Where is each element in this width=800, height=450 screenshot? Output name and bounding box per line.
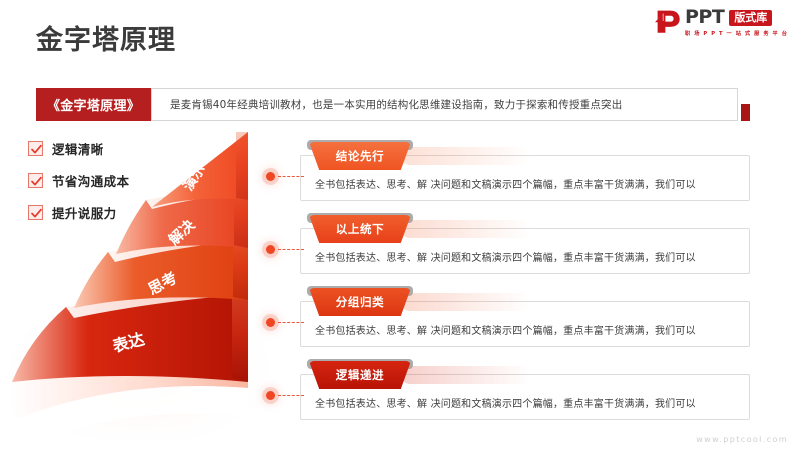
feature-checklist: 逻辑清晰 节省沟通成本 提升说服力 bbox=[28, 139, 129, 235]
checklist-item-label: 逻辑清晰 bbox=[52, 139, 104, 158]
p-logo-icon bbox=[655, 8, 681, 34]
connector-dot bbox=[266, 318, 275, 327]
checklist-item-label: 节省沟通成本 bbox=[52, 171, 129, 190]
brand-logo: PPT 版式库 职 场 P P T 一 站 式 服 务 平 台 bbox=[655, 8, 788, 37]
card-tab[interactable]: 分组归类 bbox=[309, 288, 411, 316]
connector-dot bbox=[266, 391, 275, 400]
card-tab[interactable]: 以上统下 bbox=[309, 215, 411, 243]
tab-glow bbox=[401, 220, 531, 238]
card-body-text: 全书包括表达、思考、解 决问题和文稿演示四个篇幅，重点丰富干货满满，我们可以 bbox=[315, 399, 739, 411]
checklist-item-0[interactable]: 逻辑清晰 bbox=[28, 139, 129, 158]
card-body-text: 全书包括表达、思考、解 决问题和文稿演示四个篇幅，重点丰富干货满满，我们可以 bbox=[315, 253, 739, 265]
connector-line bbox=[278, 249, 304, 250]
subtitle-text: 是麦肯锡40年经典培训教材，也是一本实用的结构化思维建设指南，致力于探索和传授重… bbox=[170, 88, 730, 121]
tab-glow bbox=[401, 293, 531, 311]
subtitle-bar: 《金字塔原理》 是麦肯锡40年经典培训教材，也是一本实用的结构化思维建设指南，致… bbox=[36, 88, 750, 121]
connector-line bbox=[278, 176, 304, 177]
subtitle-tag: 《金字塔原理》 bbox=[36, 88, 151, 121]
card-tab[interactable]: 结论先行 bbox=[309, 142, 411, 170]
subtitle-accent-block bbox=[741, 104, 750, 121]
content-card-2[interactable]: 分组归类 全书包括表达、思考、解 决问题和文稿演示四个篇幅，重点丰富干货满满，我… bbox=[300, 301, 750, 347]
logo-name: PPT bbox=[685, 8, 724, 27]
page-title: 金字塔原理 bbox=[36, 18, 176, 57]
check-icon[interactable] bbox=[28, 173, 43, 188]
card-body-text: 全书包括表达、思考、解 决问题和文稿演示四个篇幅，重点丰富干货满满，我们可以 bbox=[315, 326, 739, 338]
logo-badge: 版式库 bbox=[729, 10, 772, 26]
content-card-3[interactable]: 逻辑递进 全书包括表达、思考、解 决问题和文稿演示四个篇幅，重点丰富干货满满，我… bbox=[300, 374, 750, 420]
checklist-item-label: 提升说服力 bbox=[52, 203, 117, 222]
connector-dot bbox=[266, 172, 275, 181]
content-card-1[interactable]: 以上统下 全书包括表达、思考、解 决问题和文稿演示四个篇幅，重点丰富干货满满，我… bbox=[300, 228, 750, 274]
content-card-0[interactable]: 结论先行 全书包括表达、思考、解 决问题和文稿演示四个篇幅，重点丰富干货满满，我… bbox=[300, 155, 750, 201]
check-icon[interactable] bbox=[28, 205, 43, 220]
card-body-text: 全书包括表达、思考、解 决问题和文稿演示四个篇幅，重点丰富干货满满，我们可以 bbox=[315, 180, 739, 192]
logo-tagline: 职 场 P P T 一 站 式 服 务 平 台 bbox=[685, 30, 788, 37]
checklist-item-2[interactable]: 提升说服力 bbox=[28, 203, 129, 222]
checklist-item-1[interactable]: 节省沟通成本 bbox=[28, 171, 129, 190]
tab-glow bbox=[401, 147, 531, 165]
card-tab[interactable]: 逻辑递进 bbox=[309, 361, 411, 389]
watermark: www.pptcool.com bbox=[696, 435, 788, 444]
connector-line bbox=[278, 395, 304, 396]
check-icon[interactable] bbox=[28, 141, 43, 156]
connector-dot bbox=[266, 245, 275, 254]
tab-glow bbox=[401, 366, 531, 384]
connector-line bbox=[278, 322, 304, 323]
